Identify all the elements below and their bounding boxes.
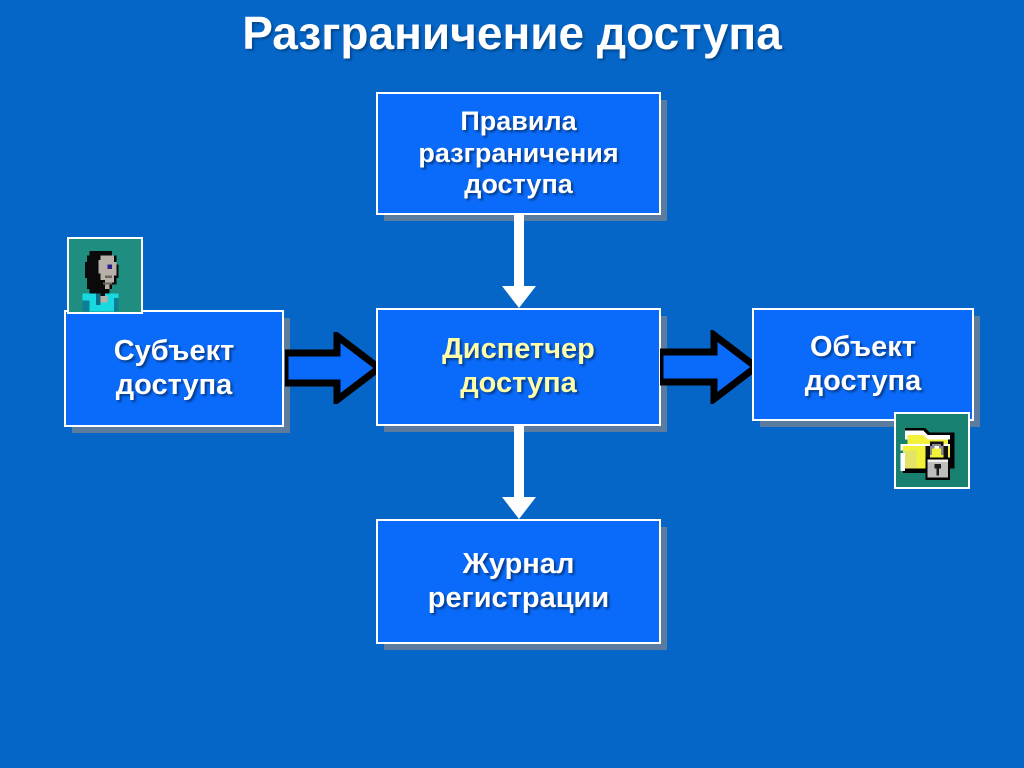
node-rules[interactable]: Правила разграничения доступа [376, 92, 661, 215]
node-object[interactable]: Объект доступа [752, 308, 974, 421]
node-journal[interactable]: Журнал регистрации [376, 519, 661, 644]
node-journal-label: Журнал регистрации [422, 548, 615, 616]
page-title: Разграничение доступа [0, 6, 1024, 60]
arrow-head-down-icon [502, 286, 536, 308]
node-subject[interactable]: Субъект доступа [64, 310, 284, 427]
node-dispatcher-label: Диспетчер доступа [436, 333, 601, 401]
node-dispatcher[interactable]: Диспетчер доступа [376, 308, 661, 426]
arrow-shaft [514, 215, 524, 286]
node-object-label: Объект доступа [799, 331, 928, 399]
node-subject-label: Субъект доступа [108, 335, 241, 403]
arrow-dispatcher-to-journal [502, 426, 536, 519]
arrow-subject-to-dispatcher [285, 332, 381, 404]
folder-lock-icon [894, 412, 970, 489]
node-rules-label: Правила разграничения доступа [412, 106, 624, 201]
person-bust-icon [67, 237, 143, 314]
slide-canvas: Разграничение доступа Правила разграниче… [0, 0, 1024, 768]
arrow-rules-to-dispatcher [502, 215, 536, 308]
arrow-dispatcher-to-object [660, 330, 758, 404]
arrow-head-down-icon [502, 497, 536, 519]
arrow-shaft [514, 426, 524, 497]
